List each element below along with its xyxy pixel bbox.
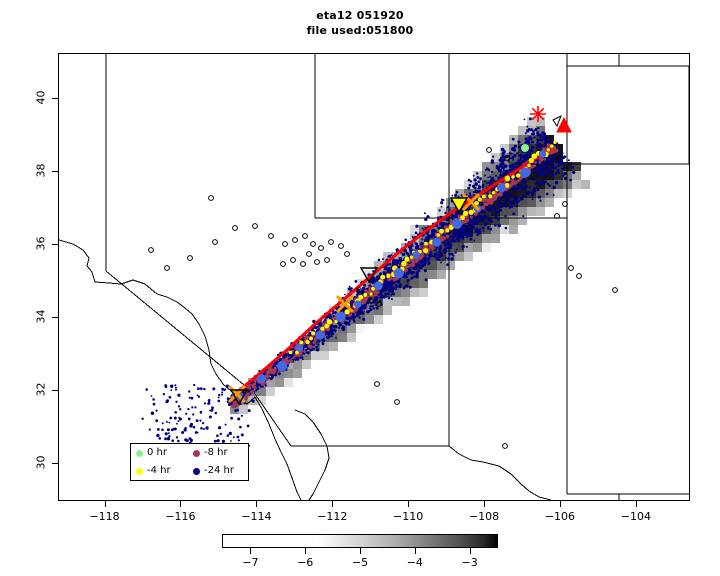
colorbar-label: −3 bbox=[450, 556, 490, 569]
particle-8hr bbox=[247, 392, 250, 395]
particle-24hr bbox=[302, 358, 304, 360]
particle-24hr bbox=[544, 140, 546, 142]
particle-24hr bbox=[548, 173, 550, 175]
particle-24hr bbox=[415, 275, 418, 278]
plume-cell bbox=[536, 198, 545, 207]
particle-24hr bbox=[524, 141, 527, 144]
particle-24hr bbox=[184, 427, 186, 429]
legend-dot--24hr bbox=[193, 468, 200, 475]
particle-4hr bbox=[445, 228, 449, 232]
particle-8hr bbox=[286, 360, 289, 363]
particle-24hr bbox=[409, 286, 412, 289]
particle-24hr bbox=[522, 195, 525, 198]
x-axis-tick bbox=[636, 501, 637, 507]
particle-8hr bbox=[420, 254, 423, 257]
particle-24hr bbox=[539, 134, 542, 137]
particle-24hr bbox=[448, 209, 450, 211]
particle-24hr bbox=[542, 131, 544, 133]
particle-24hr bbox=[487, 177, 489, 179]
particle-24hr bbox=[151, 412, 154, 415]
particle-24hr bbox=[189, 437, 192, 440]
particle-8hr bbox=[364, 297, 368, 301]
station-marker bbox=[269, 234, 274, 239]
particle-8hr bbox=[392, 278, 395, 281]
particle-24hr bbox=[366, 310, 369, 313]
colorbar-gradient bbox=[317, 535, 497, 547]
particle-24hr bbox=[531, 133, 533, 135]
particle-4hr bbox=[424, 242, 428, 246]
x-axis-label: −112 bbox=[302, 510, 362, 523]
particle-24hr bbox=[439, 209, 441, 211]
particle-24hr bbox=[466, 232, 470, 236]
x-axis-tick bbox=[256, 501, 257, 507]
particle-24hr bbox=[413, 271, 415, 273]
particle-24hr bbox=[216, 434, 219, 437]
particle-24hr bbox=[410, 278, 412, 280]
y-axis-tick bbox=[52, 463, 58, 464]
legend-grid: 0 hr -8 hr -4 hr -24 hr bbox=[131, 444, 248, 480]
station-marker bbox=[283, 242, 288, 247]
station-marker bbox=[188, 256, 193, 261]
particle-24hr bbox=[497, 224, 501, 228]
particle-24hr bbox=[454, 229, 457, 232]
plume-cell bbox=[509, 216, 518, 225]
particle-24hr bbox=[534, 128, 537, 131]
particle-24hr bbox=[561, 152, 564, 155]
particle-24hr bbox=[484, 181, 486, 183]
particle-4hr bbox=[547, 148, 550, 151]
y-axis-tick bbox=[52, 98, 58, 99]
x-axis-tick bbox=[105, 501, 106, 507]
particle-24hr bbox=[505, 199, 508, 202]
particle-24hr bbox=[322, 340, 325, 343]
particle-24hr bbox=[331, 335, 333, 337]
particle-8hr bbox=[411, 259, 415, 263]
legend-dot--8hr bbox=[193, 450, 200, 457]
particle-24hr bbox=[530, 137, 533, 140]
particle-24hr bbox=[519, 163, 521, 165]
particle-24hr bbox=[189, 424, 192, 427]
particle-24hr bbox=[177, 394, 180, 397]
particle-24hr bbox=[179, 418, 182, 421]
particle-24hr bbox=[523, 154, 525, 156]
particle-8hr bbox=[445, 226, 448, 229]
station-marker bbox=[503, 444, 508, 449]
particle-24hr bbox=[193, 426, 196, 429]
particle-24hr bbox=[328, 333, 331, 336]
plume-cell bbox=[527, 207, 536, 216]
particle-24hr bbox=[457, 239, 461, 243]
particle-24hr bbox=[421, 238, 423, 240]
particle-24hr bbox=[489, 176, 491, 178]
particle-24hr bbox=[391, 289, 393, 291]
station-marker bbox=[307, 252, 312, 257]
particle-24hr bbox=[469, 234, 473, 238]
particle-24hr bbox=[544, 142, 546, 144]
particle-24hr bbox=[458, 230, 461, 233]
x-axis-tick bbox=[484, 501, 485, 507]
waypoint-24hr bbox=[354, 300, 362, 308]
plume-cell bbox=[518, 207, 527, 216]
particle-24hr bbox=[203, 388, 205, 390]
colorbar-tick bbox=[470, 548, 471, 554]
particle-24hr bbox=[538, 196, 541, 199]
particle-24hr bbox=[494, 224, 497, 227]
plume-cell bbox=[239, 405, 248, 414]
particle-24hr bbox=[558, 157, 561, 160]
particle-24hr bbox=[444, 212, 446, 214]
particle-24hr bbox=[422, 227, 424, 229]
particle-24hr bbox=[425, 278, 428, 281]
particle-24hr bbox=[512, 159, 514, 161]
particle-24hr bbox=[352, 314, 354, 316]
station-marker bbox=[577, 274, 582, 279]
particle-24hr bbox=[171, 429, 174, 432]
particle-24hr bbox=[533, 136, 535, 138]
particle-24hr bbox=[518, 186, 520, 188]
plume-cell bbox=[293, 360, 302, 369]
particle-24hr bbox=[553, 194, 555, 196]
particle-4hr bbox=[299, 341, 303, 345]
particle-24hr bbox=[469, 222, 472, 225]
particle-24hr bbox=[141, 418, 143, 420]
particle-24hr bbox=[504, 215, 506, 217]
particle-24hr bbox=[502, 202, 504, 204]
particle-24hr bbox=[473, 191, 475, 193]
particle-24hr bbox=[248, 409, 251, 412]
particle-24hr bbox=[414, 242, 416, 244]
particle-24hr bbox=[200, 411, 202, 413]
particle-8hr bbox=[266, 376, 269, 379]
plot-canvas: eta12 051920 file used:051800 bbox=[0, 0, 720, 576]
particle-24hr bbox=[475, 219, 478, 222]
plume-cell bbox=[401, 297, 410, 306]
particle-24hr bbox=[440, 261, 442, 263]
particle-24hr bbox=[449, 246, 452, 249]
particle-24hr bbox=[476, 172, 478, 174]
particle-24hr bbox=[176, 436, 178, 438]
particle-24hr bbox=[382, 295, 385, 298]
particle-24hr bbox=[335, 337, 337, 339]
particle-24hr bbox=[396, 262, 399, 265]
page-title: eta12 051920 file used:051800 bbox=[0, 8, 720, 38]
particle-24hr bbox=[489, 228, 492, 231]
particle-24hr bbox=[200, 427, 203, 430]
particle-24hr bbox=[456, 236, 459, 239]
particle-24hr bbox=[480, 212, 482, 214]
particle-24hr bbox=[512, 212, 515, 215]
particle-24hr bbox=[424, 218, 427, 221]
particle-24hr bbox=[415, 225, 418, 228]
particle-24hr bbox=[438, 250, 440, 252]
particle-24hr bbox=[541, 165, 543, 167]
plume-cell bbox=[536, 207, 545, 216]
particle-24hr bbox=[556, 169, 559, 172]
particle-24hr bbox=[490, 180, 493, 183]
particle-24hr bbox=[499, 169, 502, 172]
particle-8hr bbox=[313, 341, 317, 345]
particle-24hr bbox=[434, 249, 436, 251]
particle-24hr bbox=[361, 306, 364, 309]
particle-24hr bbox=[237, 436, 240, 439]
particle-4hr bbox=[553, 141, 556, 144]
waypoint-24hr bbox=[277, 361, 287, 371]
particle-24hr bbox=[543, 171, 545, 173]
plume-cell bbox=[437, 270, 446, 279]
particle-24hr bbox=[436, 256, 438, 258]
particle-24hr bbox=[162, 422, 164, 424]
particle-24hr bbox=[270, 377, 273, 380]
particle-24hr bbox=[229, 432, 232, 435]
legend-item--4hr: -4 hr bbox=[131, 466, 188, 476]
x-axis-tick bbox=[180, 501, 181, 507]
y-axis-label: 38 bbox=[35, 150, 48, 190]
particle-24hr bbox=[221, 391, 223, 393]
title-line-2: file used:051800 bbox=[0, 23, 720, 38]
particle-24hr bbox=[211, 406, 214, 409]
particle-8hr bbox=[303, 350, 306, 353]
particle-24hr bbox=[393, 287, 396, 290]
particle-24hr bbox=[477, 176, 480, 179]
particle-24hr bbox=[542, 161, 544, 163]
particle-24hr bbox=[176, 423, 178, 425]
particle-24hr bbox=[362, 287, 365, 290]
particle-24hr bbox=[411, 273, 413, 275]
particle-24hr bbox=[436, 252, 438, 254]
particle-24hr bbox=[498, 204, 501, 207]
plume-cell bbox=[284, 378, 293, 387]
particle-24hr bbox=[557, 165, 559, 167]
station-marker bbox=[165, 266, 170, 271]
plume-cell bbox=[293, 369, 302, 378]
particle-24hr bbox=[312, 349, 314, 351]
particle-24hr bbox=[178, 405, 180, 407]
particle-8hr bbox=[481, 206, 485, 210]
particle-24hr bbox=[516, 152, 518, 154]
particle-24hr bbox=[385, 295, 388, 298]
x-axis-tick bbox=[332, 501, 333, 507]
particle-24hr bbox=[241, 433, 244, 436]
colorbar-tick bbox=[305, 548, 306, 554]
particle-24hr bbox=[530, 128, 533, 131]
particle-24hr bbox=[552, 186, 555, 189]
waypoint-24hr bbox=[432, 238, 441, 247]
particle-4hr bbox=[505, 176, 510, 181]
particle-24hr bbox=[384, 293, 387, 296]
particle-24hr bbox=[430, 235, 433, 238]
particle-24hr bbox=[486, 192, 488, 194]
particle-24hr bbox=[238, 439, 240, 441]
particle-24hr bbox=[225, 424, 227, 426]
particle-24hr bbox=[378, 259, 381, 262]
particle-24hr bbox=[491, 171, 493, 173]
particle-24hr bbox=[256, 387, 259, 390]
particle-24hr bbox=[159, 437, 162, 440]
particle-4hr bbox=[305, 340, 309, 344]
particle-24hr bbox=[387, 293, 389, 295]
particle-24hr bbox=[489, 209, 491, 211]
particle-24hr bbox=[360, 309, 363, 312]
particle-24hr bbox=[481, 219, 484, 222]
particle-8hr bbox=[252, 386, 255, 389]
particle-24hr bbox=[218, 394, 220, 396]
particle-24hr bbox=[473, 240, 475, 242]
particle-24hr bbox=[188, 390, 190, 392]
particle-24hr bbox=[424, 212, 426, 214]
particle-24hr bbox=[482, 226, 485, 229]
particle-8hr bbox=[489, 200, 494, 205]
particle-24hr bbox=[442, 199, 444, 201]
particle-24hr bbox=[167, 428, 170, 431]
particle-24hr bbox=[534, 179, 536, 181]
particle-24hr bbox=[525, 137, 528, 140]
particle-24hr bbox=[209, 403, 211, 405]
waypoint-24hr bbox=[520, 167, 530, 177]
particle-24hr bbox=[178, 420, 180, 422]
particle-24hr bbox=[470, 231, 472, 233]
legend-label--8hr: -8 hr bbox=[204, 448, 228, 458]
waypoint-24hr bbox=[394, 268, 404, 278]
particle-24hr bbox=[202, 422, 204, 424]
map-svg bbox=[59, 54, 689, 500]
particle-24hr bbox=[350, 287, 352, 289]
particle-24hr bbox=[495, 175, 497, 177]
particle-8hr bbox=[408, 264, 411, 267]
particle-24hr bbox=[537, 139, 539, 141]
particle-24hr bbox=[456, 191, 459, 194]
particle-24hr bbox=[438, 255, 441, 258]
station-marker bbox=[209, 196, 214, 201]
particle-24hr bbox=[168, 432, 170, 434]
particle-24hr bbox=[541, 181, 544, 184]
particle-24hr bbox=[483, 219, 485, 221]
x-axis-label: −118 bbox=[75, 510, 135, 523]
particle-24hr bbox=[517, 140, 520, 143]
particle-24hr bbox=[568, 163, 570, 165]
particle-24hr bbox=[533, 189, 535, 191]
colorbar-label: −5 bbox=[340, 556, 380, 569]
particle-24hr bbox=[469, 184, 472, 187]
particle-24hr bbox=[385, 285, 387, 287]
particle-24hr bbox=[480, 224, 482, 226]
particle-24hr bbox=[188, 418, 191, 421]
particle-24hr bbox=[522, 180, 525, 183]
particle-4hr bbox=[460, 215, 465, 220]
particle-24hr bbox=[569, 179, 572, 182]
map-inner bbox=[59, 54, 689, 500]
plume-cell bbox=[338, 333, 347, 342]
particle-24hr bbox=[388, 297, 391, 300]
plume-cell bbox=[464, 243, 473, 252]
station-marker bbox=[339, 244, 344, 249]
particle-24hr bbox=[435, 258, 437, 260]
particle-8hr bbox=[533, 164, 536, 167]
particle-24hr bbox=[514, 196, 517, 199]
particle-24hr bbox=[220, 433, 222, 435]
y-axis-tick bbox=[52, 390, 58, 391]
particle-24hr bbox=[419, 270, 421, 272]
particle-24hr bbox=[527, 142, 529, 144]
particle-24hr bbox=[442, 241, 445, 244]
particle-24hr bbox=[402, 253, 405, 256]
particle-24hr bbox=[227, 397, 230, 400]
particle-24hr bbox=[528, 155, 531, 158]
particle-24hr bbox=[435, 255, 437, 257]
particle-24hr bbox=[326, 336, 329, 339]
particle-24hr bbox=[472, 223, 474, 225]
station-marker bbox=[293, 238, 298, 243]
x-axis-tick bbox=[560, 501, 561, 507]
particle-4hr bbox=[363, 293, 367, 297]
station-marker bbox=[395, 400, 400, 405]
particle-24hr bbox=[473, 175, 475, 177]
particle-24hr bbox=[548, 161, 550, 163]
particle-24hr bbox=[466, 246, 468, 248]
particle-8hr bbox=[446, 235, 450, 239]
particle-24hr bbox=[509, 152, 511, 154]
station-marker bbox=[345, 252, 350, 257]
particle-4hr bbox=[550, 144, 553, 147]
particle-4hr bbox=[311, 331, 315, 335]
plume-cell bbox=[347, 333, 356, 342]
particle-24hr bbox=[511, 149, 513, 151]
particle-24hr bbox=[529, 118, 532, 121]
particle-24hr bbox=[421, 264, 424, 267]
particle-24hr bbox=[171, 439, 174, 442]
particle-24hr bbox=[463, 233, 467, 237]
particle-24hr bbox=[478, 190, 480, 192]
particle-24hr bbox=[199, 420, 201, 422]
particle-24hr bbox=[163, 393, 165, 395]
particle-24hr bbox=[174, 411, 177, 414]
particle-24hr bbox=[452, 255, 454, 257]
particle-24hr bbox=[524, 119, 526, 121]
plume-cell bbox=[509, 225, 518, 234]
particle-24hr bbox=[218, 397, 220, 399]
particle-24hr bbox=[481, 185, 484, 188]
colorbar-tick bbox=[360, 548, 361, 554]
particle-24hr bbox=[496, 166, 499, 169]
particle-24hr bbox=[208, 399, 211, 402]
colorbar-label: −6 bbox=[285, 556, 325, 569]
particle-24hr bbox=[544, 144, 547, 147]
plume-cell bbox=[365, 315, 374, 324]
particle-24hr bbox=[318, 323, 321, 326]
particle-24hr bbox=[316, 348, 319, 351]
particle-24hr bbox=[385, 287, 388, 290]
particle-4hr bbox=[320, 327, 324, 331]
particle-24hr bbox=[469, 219, 472, 222]
particle-24hr bbox=[521, 187, 525, 191]
particle-24hr bbox=[455, 212, 458, 215]
particle-24hr bbox=[442, 225, 444, 227]
particle-24hr bbox=[511, 202, 513, 204]
particle-24hr bbox=[491, 214, 493, 216]
particle-8hr bbox=[308, 345, 311, 348]
particle-24hr bbox=[230, 440, 232, 442]
particle-4hr bbox=[516, 173, 520, 177]
particle-24hr bbox=[410, 245, 412, 247]
particle-24hr bbox=[153, 403, 156, 406]
particle-24hr bbox=[426, 215, 429, 218]
particle-24hr bbox=[478, 228, 481, 231]
particle-24hr bbox=[170, 385, 173, 388]
particle-24hr bbox=[447, 241, 449, 243]
particle-24hr bbox=[181, 431, 184, 434]
particle-24hr bbox=[228, 403, 231, 406]
x-axis-label: −106 bbox=[530, 510, 590, 523]
particle-24hr bbox=[485, 169, 487, 171]
